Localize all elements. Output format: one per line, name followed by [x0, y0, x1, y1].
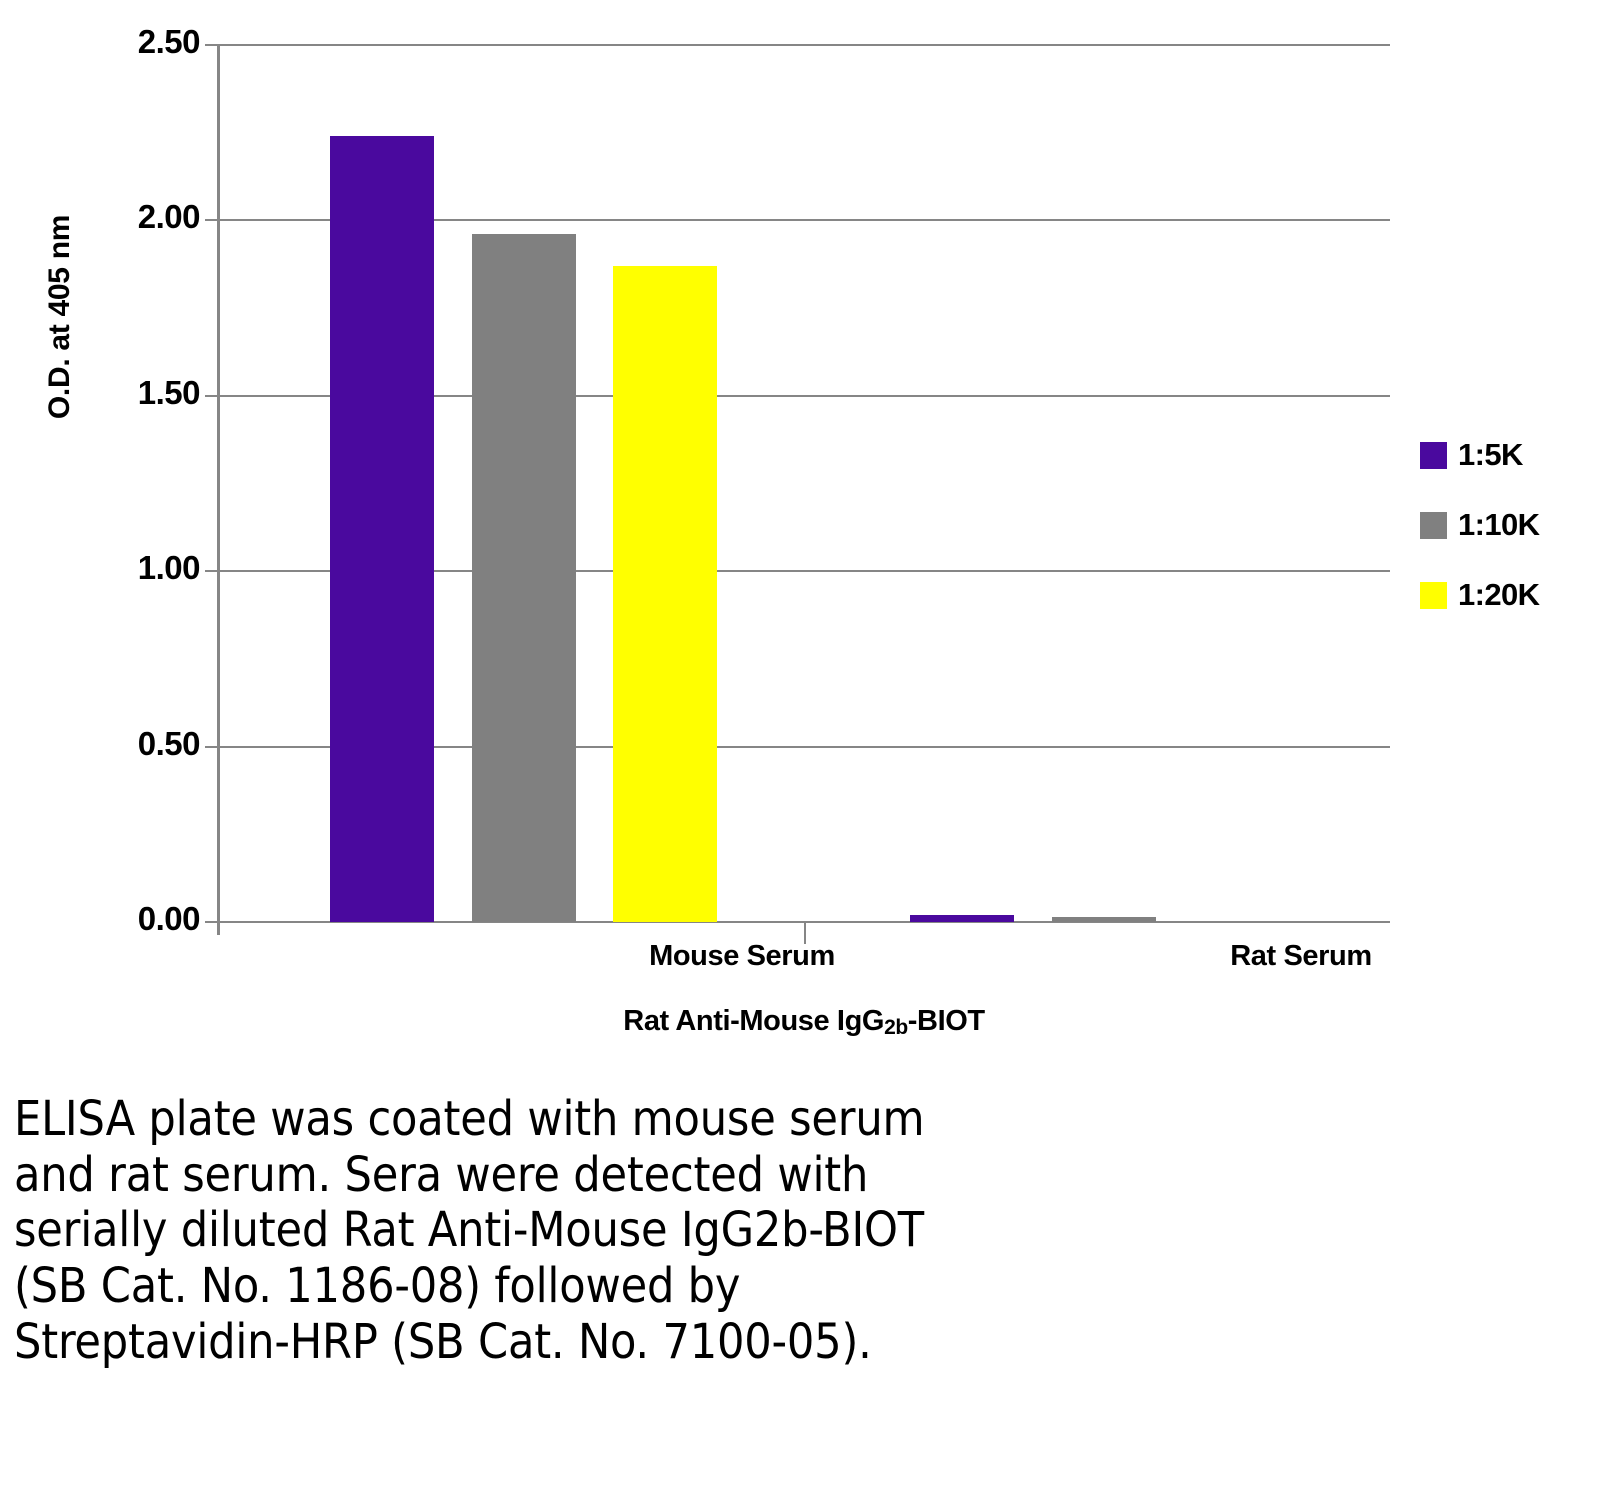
y-axis-tick-labels: 2.502.001.501.000.500.00 [30, 45, 200, 922]
y-tick-label-1-50: 1.50 [40, 374, 200, 412]
category-label-rat-serum: Rat Serum [1151, 940, 1451, 973]
x-axis-title-main: Rat Anti-Mouse IgG [623, 1005, 884, 1037]
category-label-mouse-serum: Mouse Serum [592, 940, 892, 973]
y-axis-line [217, 45, 220, 935]
legend-label: 1:5K [1458, 437, 1523, 473]
caption-line: (SB Cat. No. 1186-08) followed by [14, 1259, 1334, 1315]
x-axis-title-tail: -BIOT [908, 1005, 985, 1037]
bar-rat-serum-1-10k [1052, 917, 1156, 922]
y-tick-0-50 [205, 746, 218, 748]
y-tick-1-00 [205, 570, 218, 572]
legend-swatch-icon [1420, 582, 1447, 609]
y-tick-label-2-50: 2.50 [40, 23, 200, 61]
y-tick-label-0-50: 0.50 [40, 725, 200, 763]
y-tick-label-0-00: 0.00 [40, 900, 200, 938]
caption-line: and rat serum. Sera were detected with [14, 1148, 1334, 1204]
legend-label: 1:10K [1458, 507, 1539, 543]
caption-line: serially diluted Rat Anti-Mouse IgG2b-BI… [14, 1203, 1334, 1259]
legend-swatch-icon [1420, 512, 1447, 539]
bar-mouse-serum-1-10k [472, 234, 576, 922]
elisa-bar-chart: O.D. at 405 nm 2.502.001.501.000.500.00 … [0, 0, 1605, 1075]
caption-line: Streptavidin-HRP (SB Cat. No. 7100-05). [14, 1315, 1334, 1371]
x-axis-title: Rat Anti-Mouse IgG2b-BIOT [218, 1005, 1390, 1038]
legend-item-1-20k[interactable]: 1:20K [1420, 560, 1605, 630]
plot-area [218, 45, 1390, 922]
bar-mouse-serum-1-20k [613, 266, 717, 922]
y-tick-2-50 [205, 44, 218, 46]
y-tick-0-00 [205, 921, 218, 923]
y-tick-2-00 [205, 219, 218, 221]
y-tick-1-50 [205, 395, 218, 397]
y-tick-label-2-00: 2.00 [40, 198, 200, 236]
bar-rat-serum-1-5k [910, 915, 1014, 922]
legend-swatch-icon [1420, 442, 1447, 469]
legend-item-1-5k[interactable]: 1:5K [1420, 420, 1605, 490]
gridline-2-50 [218, 44, 1390, 46]
x-axis-title-subscript: 2b [884, 1016, 908, 1039]
caption-line: ELISA plate was coated with mouse serum [14, 1092, 1334, 1148]
y-tick-label-1-00: 1.00 [40, 549, 200, 587]
legend-label: 1:20K [1458, 577, 1539, 613]
bar-mouse-serum-1-5k [330, 136, 434, 922]
figure-caption: ELISA plate was coated with mouse seruma… [14, 1092, 1334, 1370]
legend-item-1-10k[interactable]: 1:10K [1420, 490, 1605, 560]
legend: 1:5K1:10K1:20K [1420, 420, 1605, 630]
